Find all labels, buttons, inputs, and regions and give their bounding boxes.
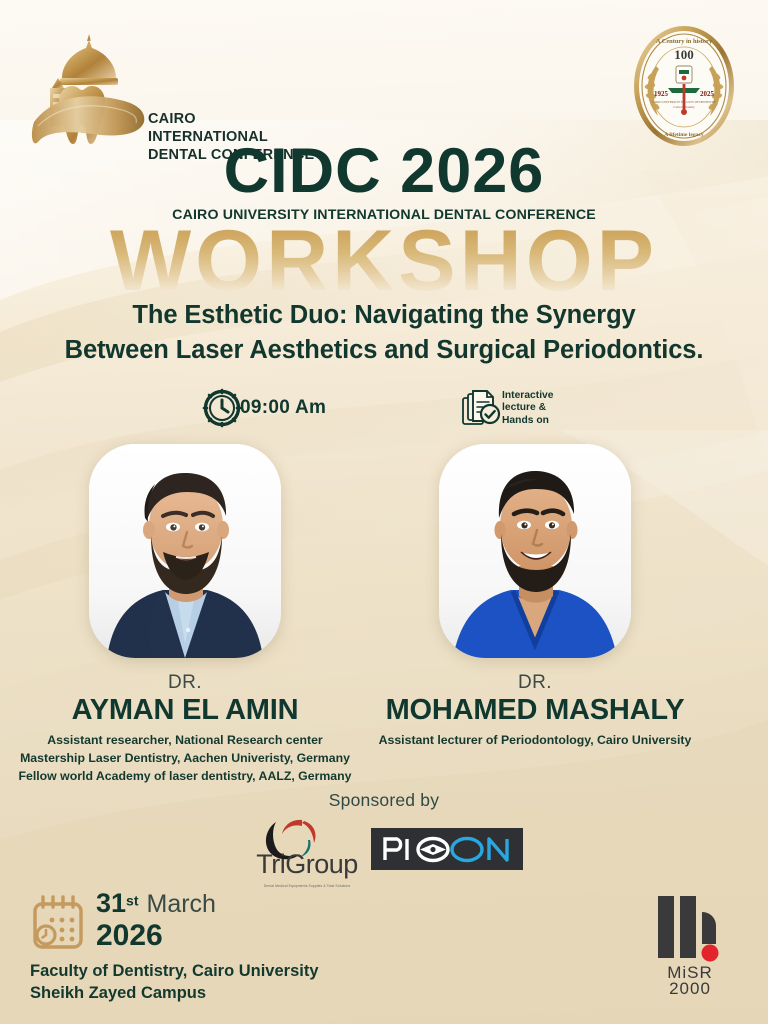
misr-2000-logo: MiSR 2000	[644, 890, 736, 998]
trigroup-tagline: Dental Medical Equipments Supplies & Tot…	[248, 884, 366, 888]
venue-address: Faculty of Dentistry, Cairo University S…	[30, 960, 319, 1005]
sponsor-logo-pioon	[371, 828, 523, 870]
svg-text:CAIRO UNIVERSITY FACULTY OF DE: CAIRO UNIVERSITY FACULTY OF DENTISTRY	[652, 100, 717, 104]
trigroup-name-part2: Group	[285, 849, 358, 879]
date-year: 2026	[96, 919, 216, 952]
time-label: 09:00 Am	[240, 397, 326, 419]
sponsored-by-label: Sponsored by	[0, 790, 768, 811]
svg-text:100: 100	[674, 47, 694, 62]
event-type-text: WORKSHOP	[0, 218, 768, 304]
speaker-name: MOHAMED MASHALY	[385, 695, 685, 725]
trigroup-wordmark: TriGroup	[248, 849, 366, 880]
cidc-acronym: CIDC	[148, 56, 318, 110]
speaker-name: AYMAN EL AMIN	[35, 695, 335, 725]
page-title: CIDC 2026	[0, 140, 768, 203]
pioon-wordmark-icon	[377, 832, 517, 866]
trigroup-name-part1: Tri	[256, 849, 285, 879]
title-block: CIDC 2026 CAIRO UNIVERSITY INTERNATIONAL…	[0, 140, 768, 223]
conference-poster: CIDC CAIRO INTERNATIONAL DENTAL CONFEREN…	[0, 0, 768, 1024]
speaker-card: DR. AYMAN EL AMIN Assistant researcher, …	[35, 444, 335, 786]
format-line2: lecture &	[502, 402, 546, 413]
time-badge: 09:00 Am	[196, 388, 336, 428]
sponsor-logos: TriGroup Dental Medical Equipments Suppl…	[0, 812, 768, 890]
svg-text:1925: 1925	[654, 90, 669, 98]
calendar-clock-icon	[30, 894, 86, 952]
speaker-photo	[439, 444, 631, 658]
cidc-logo: CIDC CAIRO INTERNATIONAL DENTAL CONFEREN…	[28, 30, 318, 150]
workshop-title-line1: The Esthetic Duo: Navigating the Synergy	[0, 298, 768, 333]
format-label: Interactive lecture & Hands on	[502, 390, 554, 428]
svg-text:2025: 2025	[700, 90, 715, 98]
speaker-prefix: DR.	[35, 672, 335, 694]
format-badge: Interactive lecture & Hands on	[458, 386, 588, 431]
cidc-dome-tooth-ribbon-icon	[28, 30, 150, 152]
sponsor-logo-trigroup: TriGroup Dental Medical Equipments Suppl…	[248, 816, 366, 890]
centennial-seal-icon: A Century in history 100	[632, 24, 736, 148]
speaker-portrait-mohamed-mashaly	[439, 444, 631, 658]
venue-line1: Faculty of Dentistry, Cairo University	[30, 960, 319, 982]
badge-row: 09:00 Am Interactive lecture & Hands on	[0, 386, 768, 434]
speaker-credentials: Assistant lecturer of Periodontology, Ca…	[370, 732, 700, 750]
svg-text:Cairo University: Cairo University	[673, 105, 695, 109]
speaker-credential-line: Assistant lecturer of Periodontology, Ca…	[370, 732, 700, 750]
speaker-credentials: Assistant researcher, National Research …	[10, 732, 360, 785]
date-day: 31	[96, 888, 126, 918]
speaker-credential-line: Fellow world Academy of laser dentistry,…	[10, 768, 360, 786]
misr-logo-name-bottom: 2000	[669, 979, 711, 998]
speaker-card: DR. MOHAMED MASHALY Assistant lecturer o…	[385, 444, 685, 750]
event-date: 31stMarch 2026	[96, 888, 216, 952]
date-day-suffix: st	[126, 893, 138, 909]
venue-line2: Sheikh Zayed Campus	[30, 982, 319, 1004]
checklist-documents-icon	[460, 389, 504, 429]
speaker-credential-line: Mastership Laser Dentistry, Aachen Unive…	[10, 750, 360, 768]
date-month: March	[147, 890, 216, 918]
date-day-month: 31stMarch	[96, 888, 216, 919]
format-line3: Hands on	[502, 415, 549, 426]
svg-text:A lifetime legacy: A lifetime legacy	[664, 132, 704, 138]
speaker-prefix: DR.	[385, 672, 685, 694]
speaker-photo	[89, 444, 281, 658]
workshop-title: The Esthetic Duo: Navigating the Synergy…	[0, 298, 768, 368]
workshop-title-line2: Between Laser Aesthetics and Surgical Pe…	[0, 333, 768, 368]
svg-text:A Century in history: A Century in history	[656, 38, 713, 45]
clock-icon	[200, 386, 244, 430]
speaker-portrait-ayman-el-amin	[89, 444, 281, 658]
speaker-credential-line: Assistant researcher, National Research …	[10, 732, 360, 750]
format-line1: Interactive	[502, 390, 554, 401]
